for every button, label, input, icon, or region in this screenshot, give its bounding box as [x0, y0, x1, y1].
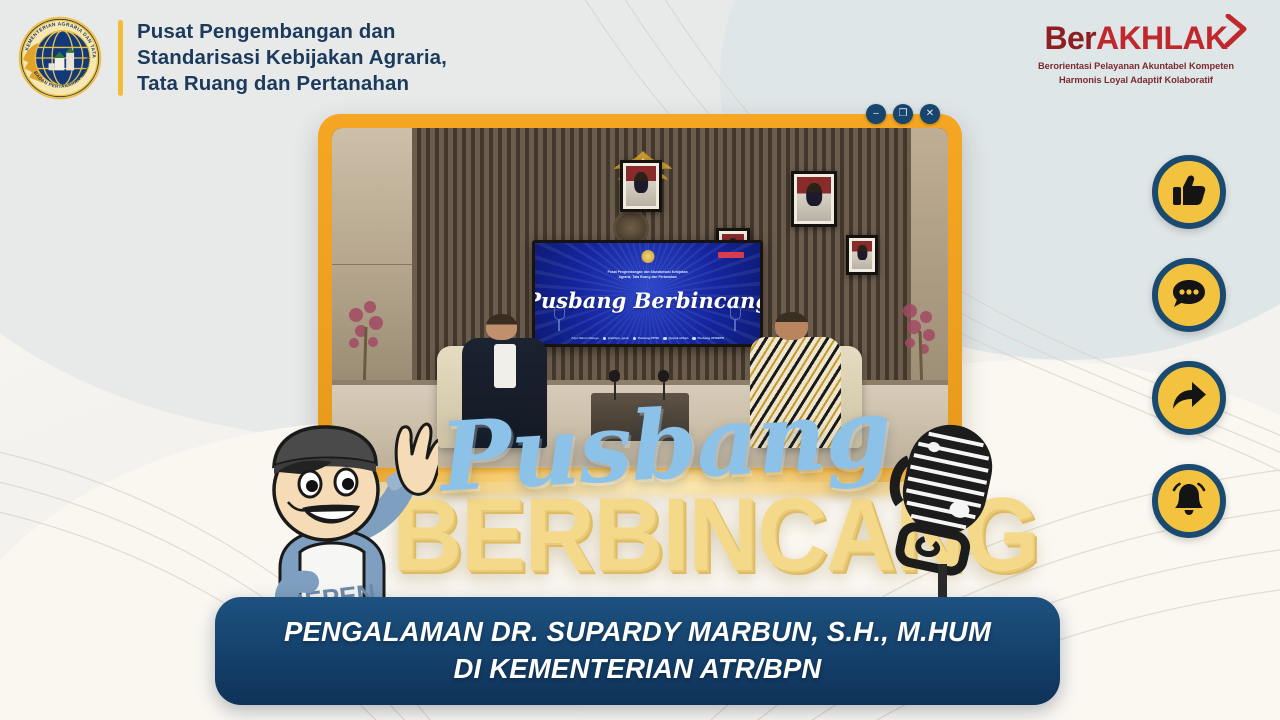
- berakhlak-chevron-icon: [1224, 14, 1250, 53]
- social-dot-icon: [692, 337, 696, 341]
- tv-subtitle-line-2: Agraria, Tata Ruang dan Pertanahan: [578, 275, 718, 280]
- like-button[interactable]: [1152, 155, 1226, 229]
- tv-social-handle: Pusbang ATR/BPN: [692, 336, 724, 340]
- header-title-line-1: Pusat Pengembangan dan: [137, 19, 447, 45]
- studio-tv-screen: Pusat Pengembangan dan Standarisasi Kebi…: [532, 240, 763, 347]
- berakhlak-tagline-line-1: Berorientasi Pelayanan Akuntabel Kompete…: [1028, 60, 1244, 72]
- tv-microphone-icon: [729, 305, 742, 331]
- tv-footer: Alya Rahmi Ratuga @atrbpn_ppsk Pusbang P…: [535, 336, 760, 340]
- tv-social-handle: @atrbpn_ppsk: [603, 336, 629, 340]
- speaker-left-head: [486, 314, 517, 341]
- banner-line-1: PENGALAMAN DR. SUPARDY MARBUN, S.H., M.H…: [284, 614, 991, 651]
- social-action-bar: [1152, 155, 1226, 538]
- tv-emblem-icon: [641, 250, 654, 263]
- speaker-right-head: [775, 312, 808, 340]
- minimize-button[interactable]: –: [866, 104, 886, 124]
- berakhlak-word-ber: Ber: [1044, 20, 1096, 56]
- banner-line-2: DI KEMENTERIAN ATR/BPN: [453, 651, 821, 688]
- social-dot-icon: [603, 337, 607, 341]
- share-arrow-icon: [1170, 377, 1208, 420]
- header-title-line-3: Tata Ruang dan Pertanahan: [137, 71, 447, 97]
- tv-subtitle: Pusat Pengembangan dan Standarisasi Kebi…: [578, 270, 718, 280]
- page-title: Pusat Pengembangan dan Standarisasi Kebi…: [137, 19, 447, 98]
- comment-button[interactable]: [1152, 258, 1226, 332]
- atr-bpn-emblem-icon: KEMENTERIAN AGRARIA DAN TATA RUANG BADAN…: [16, 14, 104, 102]
- social-dot-icon: [633, 337, 637, 341]
- episode-title-banner: PENGALAMAN DR. SUPARDY MARBUN, S.H., M.H…: [215, 597, 1060, 705]
- bell-icon: [1170, 480, 1208, 523]
- berakhlak-word-akhlak: AKHLAK: [1096, 20, 1228, 56]
- window-controls: – ❐ ✕: [866, 104, 940, 124]
- framed-portrait: [791, 171, 837, 227]
- header-branding: KEMENTERIAN AGRARIA DAN TATA RUANG BADAN…: [16, 14, 447, 102]
- berakhlak-logo: BerAKHLAK Berorientasi Pelayanan Akuntab…: [1028, 18, 1244, 87]
- vintage-microphone-icon: [876, 406, 1011, 621]
- share-button[interactable]: [1152, 361, 1226, 435]
- restore-button[interactable]: ❐: [893, 104, 913, 124]
- tv-footer-handle: Alya Rahmi Ratuga: [571, 336, 598, 340]
- header-divider: [118, 20, 123, 96]
- social-dot-icon: [663, 337, 667, 341]
- tv-brand-mark: [718, 252, 744, 258]
- close-button[interactable]: ✕: [920, 104, 940, 124]
- pusbang-script-art: Pusbang: [438, 386, 893, 506]
- tv-background: Pusat Pengembangan dan Standarisasi Kebi…: [535, 243, 760, 344]
- tv-microphone-icon: [553, 305, 566, 331]
- framed-portrait: [620, 160, 662, 212]
- thumbs-up-icon: [1170, 171, 1208, 214]
- subscribe-button[interactable]: [1152, 464, 1226, 538]
- berakhlak-wordmark: BerAKHLAK: [1028, 18, 1244, 58]
- tv-social-handle: Pusbang PPSK: [633, 336, 660, 340]
- berakhlak-tagline-line-2: Harmonis Loyal Adaptif Kolaboratif: [1028, 74, 1244, 86]
- framed-portrait: [846, 235, 878, 275]
- speaker-left-shirt: [494, 344, 516, 388]
- tv-social-handle: @ppsk.atrbpn: [663, 336, 688, 340]
- comment-icon: [1170, 274, 1208, 317]
- header-title-line-2: Standarisasi Kebijakan Agraria,: [137, 45, 447, 71]
